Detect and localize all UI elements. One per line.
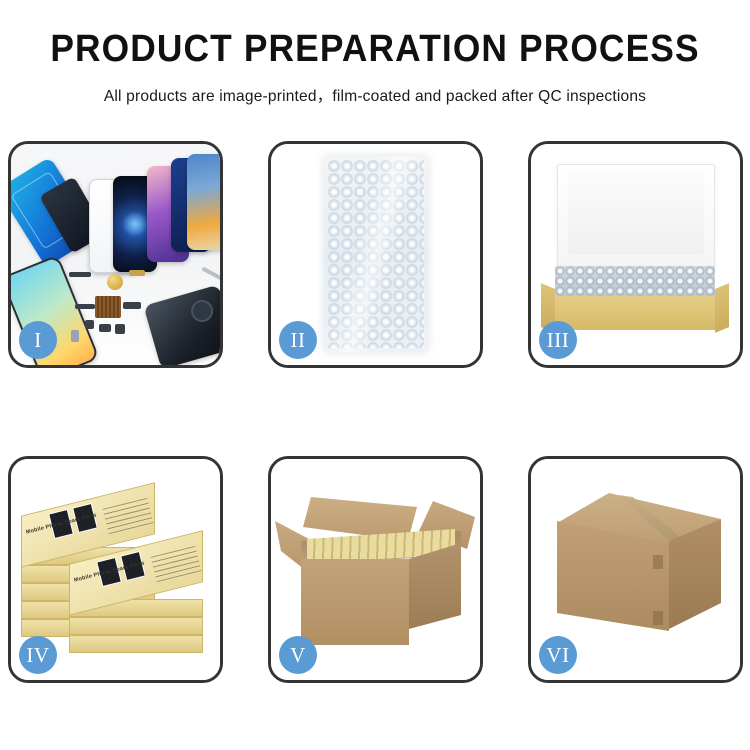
speaker-module-icon	[107, 274, 123, 290]
carton-handle-notch-icon	[653, 555, 663, 569]
plastic-sheen	[324, 156, 428, 352]
step-badge-1: I	[19, 321, 57, 359]
phone-parts-scene: I	[11, 144, 220, 365]
stacked-boxes-scene: Mobile Phone Spare Parts Mobile Phone Sp…	[11, 459, 220, 680]
bubble-wrap-scene: II	[271, 144, 480, 365]
process-steps-grid: I II III	[8, 141, 748, 683]
stacked-box	[69, 635, 203, 653]
step-panel-3: III	[528, 141, 743, 368]
step-badge-4: IV	[19, 636, 57, 674]
step-panel-4: Mobile Phone Spare Parts Mobile Phone Sp…	[8, 456, 223, 683]
page-title: PRODUCT PREPARATION PROCESS	[26, 30, 724, 68]
bubble-wrap-package-icon	[324, 156, 428, 352]
step-panel-6: VI	[528, 456, 743, 683]
stacked-box	[69, 617, 203, 635]
step-badge-2: II	[279, 321, 317, 359]
phone-teardown-back-icon	[143, 285, 220, 365]
open-carton-scene: V	[271, 459, 480, 680]
button-part-icon	[85, 320, 94, 329]
battery-connector-icon	[99, 324, 111, 332]
step-panel-5: V	[268, 456, 483, 683]
page-subtitle: All products are image-printed，film-coat…	[11, 82, 739, 106]
step-badge-5: V	[279, 636, 317, 674]
step-badge-6: VI	[539, 636, 577, 674]
orange-wallpaper-phone-icon	[187, 154, 220, 250]
sealed-carton-scene: VI	[531, 459, 740, 680]
sim-tray-icon	[71, 330, 79, 342]
yellow-box-tray-icon	[549, 296, 721, 330]
screw-tray-icon	[95, 296, 121, 318]
carton-handle-notch-icon	[653, 611, 663, 625]
step-badge-3: III	[539, 321, 577, 359]
ribbon-part-icon	[75, 304, 95, 309]
white-box-lid-icon	[557, 164, 715, 272]
screwdriver-icon	[201, 267, 220, 282]
carton-front-face-icon	[301, 559, 409, 645]
step-panel-1: I	[8, 141, 223, 368]
page-header: PRODUCT PREPARATION PROCESS All products…	[0, 0, 750, 106]
inner-box-scene: III	[531, 144, 740, 365]
step-panel-2: II	[268, 141, 483, 368]
vibrator-part-icon	[115, 324, 125, 334]
connector-part-icon	[129, 270, 145, 276]
camera-part-icon	[123, 302, 141, 309]
flex-cable-part-icon	[69, 272, 91, 277]
